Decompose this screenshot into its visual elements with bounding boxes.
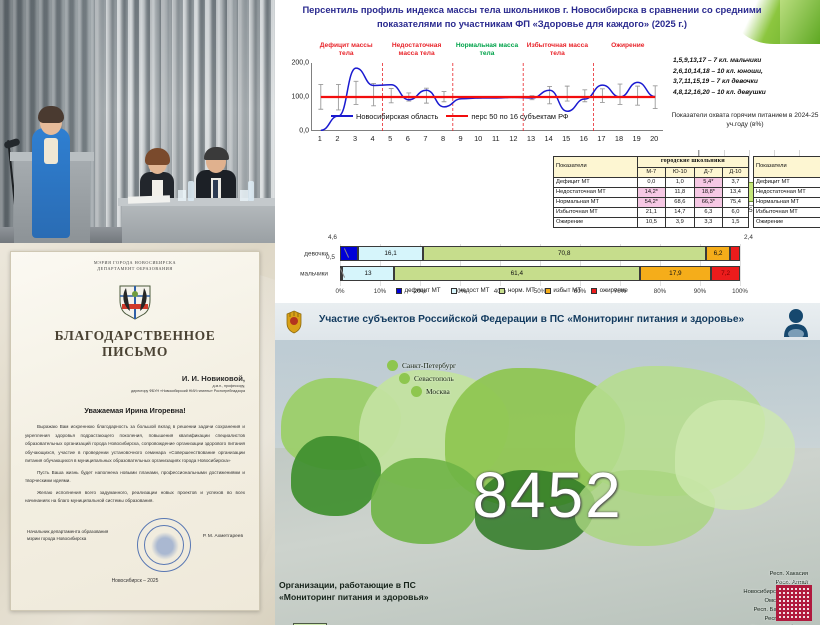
side-note-line: 4,8,12,16,20 – 10 кл. девушки [673, 88, 820, 99]
percentile-x-tick: 20 [650, 134, 658, 143]
legend-swatch [396, 288, 402, 294]
bmi-bar-segment: 13 [342, 266, 394, 281]
map-city-marker-icon [399, 373, 410, 384]
slide-canvas: МЭРИЯ ГОРОДА НОВОСИБИРСКА ДЕПАРТАМЕНТ ОБ… [0, 0, 820, 625]
map-city-marker-icon [411, 386, 422, 397]
bmi-distribution-chart: 0%10%20%30%40%50%60%70%80%90%100%16,170,… [276, 232, 820, 302]
bmi-outside-label-deficit-girls: 4,6 [328, 234, 337, 241]
percentile-x-tick: 19 [632, 134, 640, 143]
chart-title-band: Персентиль профиль индекса массы тела шк… [275, 0, 820, 44]
table-cell: 68,6 [665, 197, 694, 207]
table-cell: 3,3 [694, 218, 722, 228]
map-header-bar: Участие субъектов Российской Федерации в… [275, 303, 820, 340]
chart-side-note: 1,5,9,13,17 – 7 кл. мальчики2,6,10,14,18… [673, 56, 820, 99]
letter-signature-block: Начальник департамента образования мэрии… [25, 524, 245, 570]
table-cell: 1,5 [722, 218, 748, 228]
city-schoolchildren-table: Показателигородские школьникиМ-7Ю-10Д-7Д… [553, 156, 749, 228]
percentile-x-tick: 2 [335, 134, 339, 143]
letter-greeting: Уважаемая Ирина Игоревна! [25, 406, 245, 415]
letter-signer-role: Начальник департамента образования мэрии… [27, 528, 108, 542]
table-row: Нормальная МТ54,2*68,666,3*75,4 [554, 197, 749, 207]
water-bottle-icon [188, 181, 194, 201]
map-city-marker-icon [387, 360, 398, 371]
map-legend-title: Организации, работающие в ПС «Мониторинг… [279, 580, 429, 603]
letter-org-line-2: ДЕПАРТАМЕНТ ОБРАЗОВАНИЯ [25, 266, 245, 272]
bmi-bar-segment: 17,9 [640, 266, 712, 281]
map-region-label: Респ. Хакасия [743, 570, 808, 579]
qr-code-block: WWW.NIIG.SU [774, 579, 814, 621]
table-row-header: Показатели [754, 157, 820, 178]
table-cell: 3,9 [665, 218, 694, 228]
percentile-x-tick: 18 [615, 134, 623, 143]
bmi-legend-item: норм. МТ [499, 287, 534, 294]
percentile-x-tick: 12 [509, 134, 517, 143]
table-row-label: Нормальная МТ [754, 197, 820, 207]
table-row-label: Дефицит МТ [554, 177, 638, 187]
table-row: Дефицит МТ0,01,05,4*3,7 [554, 177, 749, 187]
chart-title: Персентиль профиль индекса массы тела шк… [297, 3, 767, 30]
table-row-label: Недостаточная МТ [754, 187, 820, 197]
letter-paragraph-3: Желаю исполнения всего задуманного, реал… [25, 489, 245, 506]
bmi-category-label: девочки [304, 251, 328, 258]
percentile-x-tick: 3 [353, 134, 357, 143]
legend-swatch [499, 288, 505, 294]
table-row: Недостаточная МТ10,3*21,7*19,2*20,0 [754, 187, 820, 197]
legend-label: перс 50 по 16 субъектам РФ [471, 112, 568, 121]
person-avatar-icon [782, 307, 810, 337]
green-swoosh-decoration-2 [780, 0, 820, 44]
rural-schoolchildren-table: Показателисельские школьникиМ-7Ю-10Д-7Д-… [753, 156, 820, 228]
map-legend-item: до 10 организаций [293, 618, 373, 625]
map-city-callout: Севастополь [399, 373, 454, 384]
table-cell: 1,0 [665, 177, 694, 187]
bmi-bar-row: 1361,417,97,2 [340, 266, 740, 281]
table-row-label: Недостаточная МТ [554, 187, 638, 197]
percentile-x-tick: 16 [580, 134, 588, 143]
letter-addressee-role-2: директору ФБУН «Новосибирский НИИ гигиен… [25, 389, 245, 394]
percentile-band-label: Недостаточная масса тела [383, 42, 451, 58]
table-cell: 18,8* [694, 187, 722, 197]
percentile-x-tick: 17 [597, 134, 605, 143]
table-cell: 11,8 [665, 187, 694, 197]
bmi-outside-label-deficit-boys: 0,5 [326, 254, 335, 261]
percentile-x-tick: 10 [474, 134, 482, 143]
percentile-x-tick: 8 [441, 134, 445, 143]
table-cell: 14,2* [637, 187, 665, 197]
seated-person-2-hair [204, 147, 229, 160]
legend-label: норм. МТ [508, 287, 535, 294]
bmi-x-tick: 10% [374, 288, 386, 295]
percentile-legend: Новосибирская областьперс 50 по 16 субъе… [331, 110, 661, 122]
table-cell: 6,3 [694, 208, 722, 218]
table-row: Недостаточная МТ14,2*11,818,8*13,4 [554, 187, 749, 197]
percentile-band-label: Ожирение [594, 42, 662, 50]
bmi-gridline [740, 244, 741, 286]
table-cell: 14,7 [665, 208, 694, 218]
water-glass-icon [178, 190, 186, 201]
presidium-table [122, 203, 275, 243]
map-region-shape [675, 400, 795, 510]
side-note-line: 3,7,11,15,19 – 7 кл девочки [673, 77, 820, 88]
conference-photo [0, 0, 275, 245]
bmi-x-tick: 100% [732, 288, 748, 295]
bmi-legend-item: ожирение [591, 287, 628, 294]
map-header-title: Участие субъектов Российской Федерации в… [319, 314, 744, 325]
legend-label: недост МТ [459, 287, 489, 294]
legend-swatch [591, 288, 597, 294]
percentile-band-label: Дефицит массы тела [312, 42, 380, 58]
water-glass-icon [240, 190, 248, 201]
bmi-legend-item: избыт МТ [545, 287, 581, 294]
speaker-shirt [44, 138, 58, 164]
novosibirsk-coat-of-arms-icon [112, 278, 158, 322]
table-cell: 21,1 [637, 208, 665, 218]
legend-swatch [451, 288, 457, 294]
table-group-header: городские школьники [637, 157, 748, 168]
bmi-bar-segment: 70,8 [423, 246, 706, 261]
map-city-label: Санкт-Петербург [402, 361, 456, 370]
side-note-line: 1,5,9,13,17 – 7 кл. мальчики [673, 56, 820, 67]
percentile-x-tick: 9 [459, 134, 463, 143]
table-cell: 75,4 [722, 197, 748, 207]
table-cell: 3,7 [722, 177, 748, 187]
table-cell: 66,3* [694, 197, 722, 207]
bmi-outside-label-obesity-girls: 2,4 [744, 234, 753, 241]
table-row: Ожирение10,53,93,31,5 [554, 218, 749, 228]
legend-label: Новосибирская область [356, 112, 438, 121]
bmi-x-tick: 90% [694, 288, 706, 295]
table-cell: 10,5 [637, 218, 665, 228]
table-row-label: Ожирение [754, 218, 820, 228]
table-row-label: Ожирение [554, 218, 638, 228]
letter-signer-name: Р. М. Ахметгареев [203, 534, 243, 539]
table-column-header: Ю-10 [665, 167, 694, 177]
bmi-bar-row: 16,170,86,2 [340, 246, 740, 261]
letter-paragraph-2: Пусть Ваша жизнь будет наполнена новыми … [25, 469, 245, 486]
percentile-band-label: Нормальная масса тела [453, 42, 521, 58]
percentile-x-tick: 6 [406, 134, 410, 143]
map-image: Санкт-ПетербургСевастопольМосква 8452 Ор… [275, 340, 820, 625]
bmi-bar-segment: 16,1 [358, 246, 422, 261]
percentile-x-tick: 1 [318, 134, 322, 143]
percentile-y-tick: 0,0 [275, 128, 309, 135]
gratitude-letter: МЭРИЯ ГОРОДА НОВОСИБИРСКА ДЕПАРТАМЕНТ ОБ… [0, 243, 275, 625]
percentile-profile-chart: Дефицит массы телаНедостаточная масса те… [275, 42, 675, 154]
map-city-label: Москва [426, 387, 450, 396]
table-row: Избыточная МТ21,114,76,36,0 [554, 208, 749, 218]
percentile-y-tick: 100,0 [275, 94, 309, 101]
speaker-hair [38, 106, 64, 123]
table-row-label: Нормальная МТ [554, 197, 638, 207]
legend-label: избыт МТ [553, 287, 581, 294]
bmi-legend-item: недост МТ [451, 287, 490, 294]
table-column-header: Д-7 [694, 167, 722, 177]
bmi-bar-segment: 6,2 [706, 246, 731, 261]
table-column-header: Д-10 [722, 167, 748, 177]
side-note-line: 2,6,10,14,18 – 10 кл. юноши, [673, 67, 820, 78]
map-region-shape [371, 458, 481, 544]
qr-url-label: WWW.NIIG.SU [774, 579, 814, 584]
bmi-bar-segment [730, 246, 740, 261]
legend-line-swatch [331, 115, 353, 117]
table-row-label: Дефицит МТ [754, 177, 820, 187]
organizations-count: 8452 [472, 458, 622, 532]
table-cell: 54,2* [637, 197, 665, 207]
legend-swatch [545, 288, 551, 294]
table-row-label: Избыточная МТ [754, 208, 820, 218]
map-city-callout: Санкт-Петербург [387, 360, 456, 371]
water-bottle-icon [248, 181, 254, 201]
hot-meal-chart-title: Показатели охвата горячим питанием в 202… [670, 112, 820, 130]
bmi-x-tick: 80% [654, 288, 666, 295]
percentile-x-tick: 14 [544, 134, 552, 143]
bmi-legend-item: дефицит МТ [396, 287, 441, 294]
table-row-label: Избыточная МТ [554, 208, 638, 218]
official-seal-stamp [137, 518, 191, 572]
table-row: Ожирение11,34,33,011,1 [754, 218, 820, 228]
letter-addressee: И. И. Новиковой, [25, 374, 245, 383]
russia-participation-map: Участие субъектов Российской Федерации в… [275, 303, 820, 625]
table-row: Избыточная МТ28,9*13,014,14,4 [754, 208, 820, 218]
percentile-x-tick: 15 [562, 134, 570, 143]
percentile-x-tick: 13 [527, 134, 535, 143]
bmi-x-tick: 0% [336, 288, 345, 295]
map-city-callout: Москва [411, 386, 450, 397]
bmi-category-label: мальчики [300, 271, 328, 278]
percentile-legend-item: перс 50 по 16 субъектам РФ [446, 112, 568, 121]
table-cell: 5,4* [694, 177, 722, 187]
percentile-band-label: Избыточная масса тела [523, 42, 591, 58]
table-row: Нормальная МТ48,5*60,955,6*64,4 [754, 197, 820, 207]
bmi-distribution-legend: дефицит МТнедост МТнорм. МТизбыт МТожире… [396, 287, 628, 294]
map-city-label: Севастополь [414, 374, 454, 383]
seated-person-1-hair [145, 148, 170, 165]
percentile-legend-item: Новосибирская область [331, 112, 438, 121]
letter-sheet: МЭРИЯ ГОРОДА НОВОСИБИРСКА ДЕПАРТАМЕНТ ОБ… [10, 251, 260, 611]
legend-line-swatch [446, 115, 468, 117]
papers [128, 195, 170, 203]
table-cell: 0,0 [637, 177, 665, 187]
percentile-x-tick: 7 [423, 134, 427, 143]
letter-title: БЛАГОДАРСТВЕННОЕ ПИСЬМО [25, 328, 245, 360]
table-cell: 6,0 [722, 208, 748, 218]
table-row: Дефицит МТ1,00,08,1*0,0 [754, 177, 820, 187]
bmi-distribution-plot-area: 0%10%20%30%40%50%60%70%80%90%100%16,170,… [340, 246, 740, 284]
percentile-x-tick: 4 [371, 134, 375, 143]
letter-city-year: Новосибирск – 2025 [25, 578, 245, 584]
bmi-bar-segment: 61,4 [394, 266, 640, 281]
letter-paragraph-1: Выражаю Вам искреннюю благодарность за б… [25, 423, 245, 465]
table-column-header: М-7 [637, 167, 665, 177]
russia-emblem-icon [281, 309, 307, 335]
percentile-y-tick: 200,0 [275, 60, 309, 67]
map-region-shape [291, 436, 381, 516]
qr-code-icon[interactable] [776, 585, 812, 621]
percentile-x-tick: 5 [388, 134, 392, 143]
legend-label: дефицит МТ [405, 287, 441, 294]
table-cell: 13,4 [722, 187, 748, 197]
percentile-x-tick: 11 [492, 134, 500, 143]
table-row-header: Показатели [554, 157, 638, 178]
bmi-bar-segment: 7,2 [711, 266, 740, 281]
legend-label: ожирение [600, 287, 628, 294]
